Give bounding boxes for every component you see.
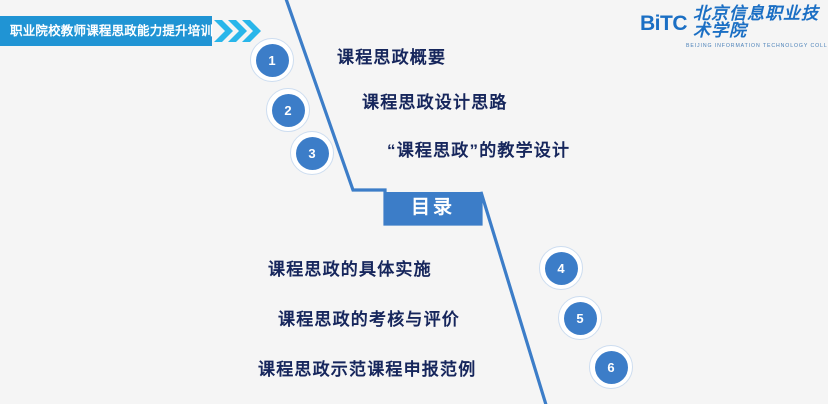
logo-chinese-name: 北京信息职业技术学院 (693, 6, 820, 40)
step-circle-3[interactable]: 3 (290, 131, 334, 175)
header-banner: 职业院校教师课程思政能力提升培训 (0, 16, 212, 46)
logo-mark-text: BiTC (640, 13, 687, 34)
step-circle-6[interactable]: 6 (589, 345, 633, 389)
toc-banner: 目录 (385, 192, 481, 223)
step-circle-4[interactable]: 4 (539, 246, 583, 290)
step-circle-5[interactable]: 5 (558, 296, 602, 340)
step-number-1: 1 (256, 44, 289, 77)
double-chevron-right-icon (212, 16, 264, 46)
item-label-5[interactable]: 课程思政的考核与评价 (278, 311, 460, 328)
step-number-3: 3 (296, 137, 329, 170)
item-label-4[interactable]: 课程思政的具体实施 (268, 261, 432, 278)
logo-top-row: BiTC 北京信息职业技术学院 (640, 6, 820, 40)
logo-english-name: BEIJING INFORMATION TECHNOLOGY COLLEGE (686, 43, 828, 49)
toc-title: 目录 (411, 198, 455, 217)
step-number-6: 6 (595, 351, 628, 384)
step-circle-2[interactable]: 2 (266, 88, 310, 132)
step-number-2: 2 (272, 94, 305, 127)
step-number-4: 4 (545, 252, 578, 285)
item-label-6[interactable]: 课程思政示范课程申报范例 (258, 361, 476, 378)
college-logo: BiTC 北京信息职业技术学院 BEIJING INFORMATION TECH… (640, 6, 820, 46)
item-label-2[interactable]: 课程思政设计思路 (362, 94, 508, 111)
item-label-3[interactable]: “课程思政”的教学设计 (387, 142, 570, 159)
item-label-1[interactable]: 课程思政概要 (337, 49, 446, 66)
step-number-5: 5 (564, 302, 597, 335)
slide-canvas: 职业院校教师课程思政能力提升培训 BiTC 北京信息职业技术学院 BEIJING… (0, 0, 828, 404)
header-banner-label: 职业院校教师课程思政能力提升培训 (10, 16, 213, 46)
